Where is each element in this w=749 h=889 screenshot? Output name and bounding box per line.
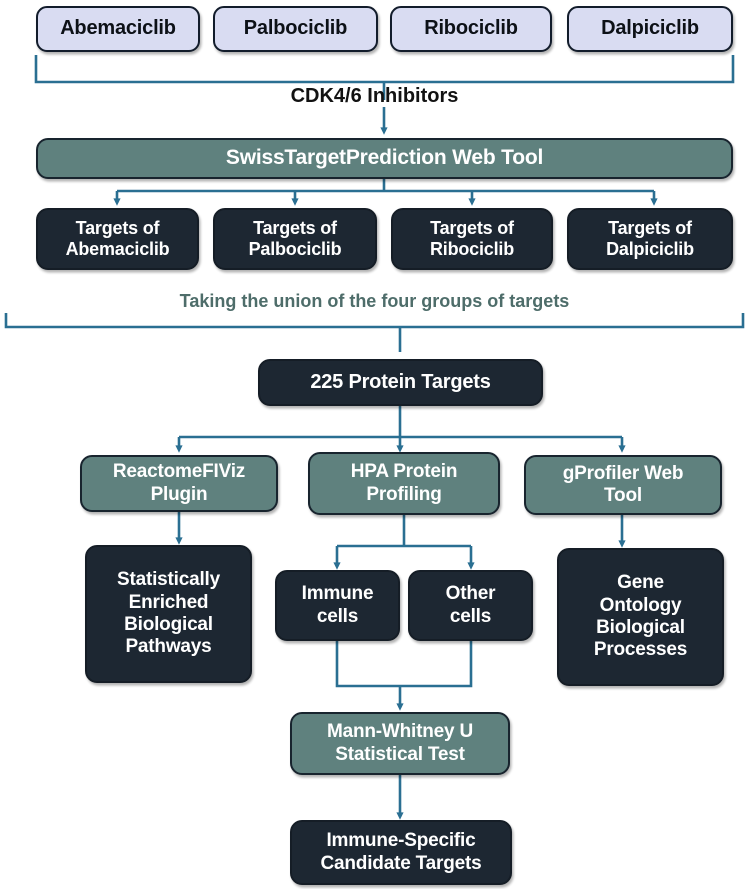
caption-drug-class: CDK4/6 Inhibitors [0,85,749,108]
drug-box-abemaciclib[interactable]: Abemaciclib [36,6,200,52]
target-group-dalpiciclib[interactable]: Targets of Dalpiciclib [567,208,733,270]
stat-test-box-mann-whitney[interactable]: Mann-Whitney U Statistical Test [290,712,510,775]
tool-box-gprofiler[interactable]: gProfiler Web Tool [524,455,722,515]
cell-group-immune-cells[interactable]: Immune cells [275,570,400,641]
target-group-palbociclib[interactable]: Targets of Palbociclib [213,208,377,270]
drug-box-palbociclib[interactable]: Palbociclib [213,6,378,52]
bracket-drugs [36,55,733,82]
result-box-gene-ontology[interactable]: Gene Ontology Biological Processes [557,548,724,686]
drug-box-ribociclib[interactable]: Ribociclib [390,6,552,52]
tool-box-reactomefiviz[interactable]: ReactomeFIViz Plugin [80,455,278,512]
result-box-enriched-pathways[interactable]: Statistically Enriched Biological Pathwa… [85,545,252,683]
target-group-ribociclib[interactable]: Targets of Ribociclib [391,208,553,270]
bracket-union [6,313,743,327]
target-group-abemaciclib[interactable]: Targets of Abemaciclib [36,208,199,270]
tool-box-hpa-protein-profiling[interactable]: HPA Protein Profiling [308,452,500,515]
caption-union: Taking the union of the four groups of t… [0,291,749,312]
tool-box-swisstargetprediction[interactable]: SwissTargetPrediction Web Tool [36,138,733,179]
result-box-immune-specific-candidates[interactable]: Immune-Specific Candidate Targets [290,820,512,885]
drug-box-dalpiciclib[interactable]: Dalpiciclib [567,6,733,52]
cell-group-other-cells[interactable]: Other cells [408,570,533,641]
flowchart-canvas: Abemaciclib Palbociclib Ribociclib Dalpi… [0,0,749,889]
bracket-cells [337,641,471,686]
protein-targets-box[interactable]: 225 Protein Targets [258,359,543,406]
